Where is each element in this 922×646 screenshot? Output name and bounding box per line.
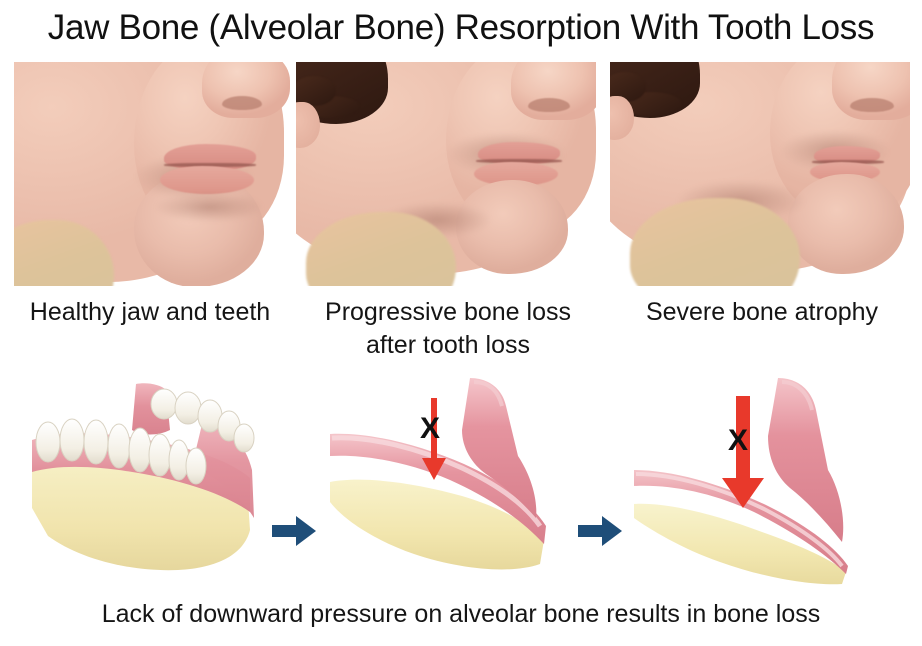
- face-illustration-healthy: [14, 62, 290, 286]
- jaw-illustration-with-teeth: [18, 378, 274, 590]
- jaw-panel-with-teeth: [18, 378, 274, 590]
- lower-lip: [160, 166, 254, 194]
- face-panel-severe: [610, 62, 910, 286]
- face-profiles-row: [0, 62, 922, 286]
- force-marker-1: X: [398, 396, 472, 482]
- no-pressure-x-mark: X: [420, 414, 440, 444]
- caption-progressive-line2: after tooth loss: [296, 329, 600, 362]
- diagram-root: Jaw Bone (Alveolar Bone) Resorption With…: [0, 0, 922, 646]
- face-panel-progressive: [296, 62, 596, 286]
- caption-healthy: Healthy jaw and teeth: [0, 296, 300, 329]
- right-arrow-icon: [578, 514, 622, 548]
- force-marker-2: X: [706, 394, 784, 510]
- page-title: Jaw Bone (Alveolar Bone) Resorption With…: [0, 8, 922, 48]
- face-illustration-severe: [610, 62, 910, 286]
- caption-severe: Severe bone atrophy: [612, 296, 912, 329]
- no-pressure-x-mark: X: [728, 426, 748, 456]
- bottom-caption: Lack of downward pressure on alveolar bo…: [0, 600, 922, 629]
- progression-arrow-1: [272, 514, 316, 548]
- progression-arrow-2: [578, 514, 622, 548]
- face-illustration-progressive: [296, 62, 596, 286]
- right-arrow-icon: [272, 514, 316, 548]
- face-panel-healthy: [14, 62, 290, 286]
- caption-progressive: Progressive bone loss after tooth loss: [296, 296, 600, 362]
- caption-progressive-line1: Progressive bone loss: [296, 296, 600, 329]
